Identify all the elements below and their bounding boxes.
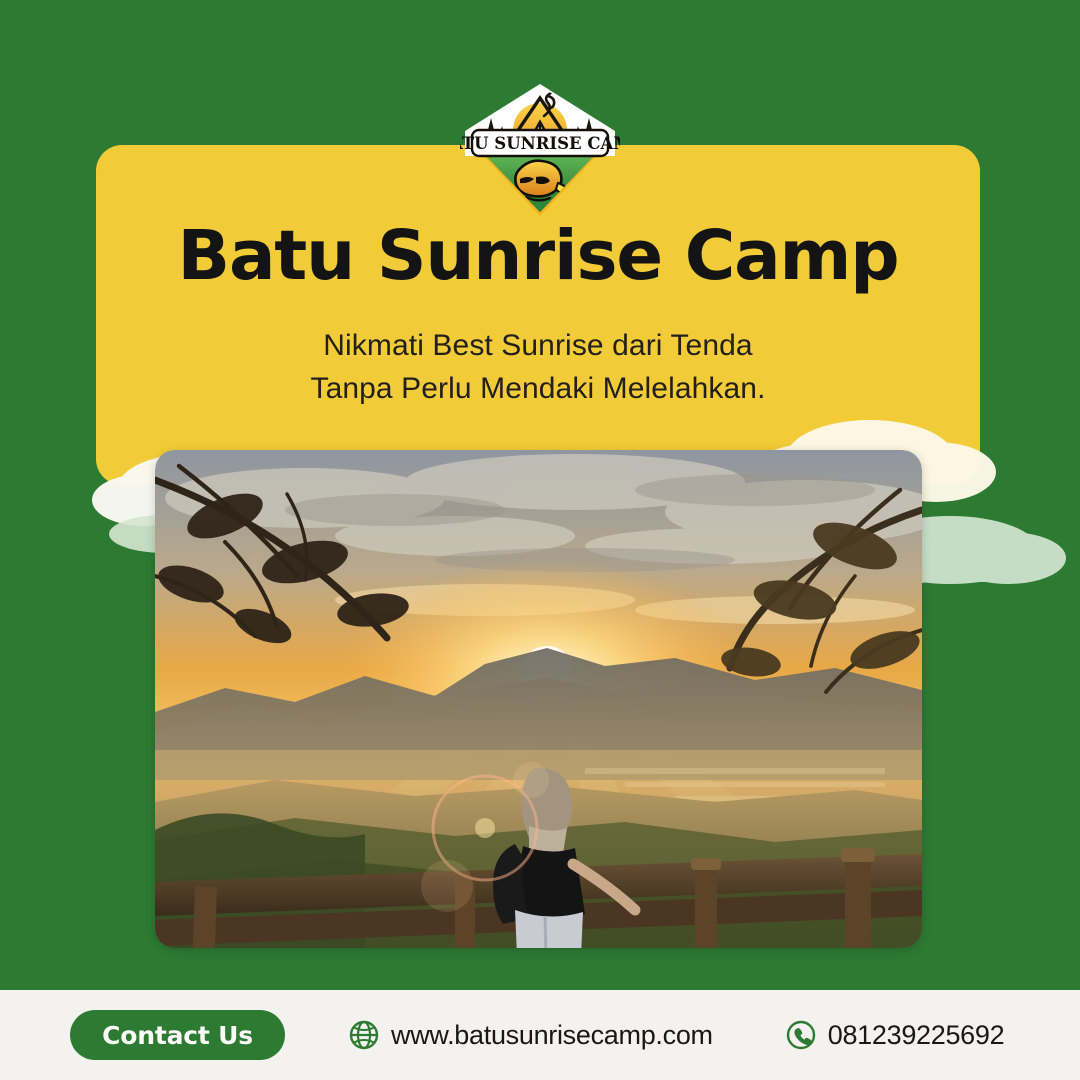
phone-contact[interactable]: 081239225692 <box>785 1019 1005 1051</box>
poster-canvas: BATU SUNRISE CAMP Batu Sunrise Camp Nikm… <box>0 0 1080 1080</box>
subtitle-block: Nikmati Best Sunrise dari Tenda Tanpa Pe… <box>310 325 765 410</box>
logo-wordmark-text: BATU SUNRISE CAMP <box>460 134 620 153</box>
contact-us-button[interactable]: Contact Us <box>70 1010 285 1060</box>
subtitle-line-2: Tanpa Perlu Mendaki Melelahkan. <box>310 368 765 411</box>
phone-circle-icon <box>785 1019 817 1051</box>
website-contact[interactable]: www.batusunrisecamp.com <box>348 1019 713 1051</box>
brand-logo-badge: BATU SUNRISE CAMP <box>460 82 620 218</box>
phone-text: 081239225692 <box>828 1020 1005 1051</box>
subtitle-line-1: Nikmati Best Sunrise dari Tenda <box>310 325 765 368</box>
globe-icon <box>348 1019 380 1051</box>
contact-footer: Contact Us www.batusunrisecamp.com 08123… <box>0 990 1080 1080</box>
website-text: www.batusunrisecamp.com <box>391 1020 713 1051</box>
hero-photo <box>155 450 922 948</box>
logo-wordmark-plate: BATU SUNRISE CAMP <box>460 130 620 156</box>
page-title: Batu Sunrise Camp <box>178 221 899 291</box>
